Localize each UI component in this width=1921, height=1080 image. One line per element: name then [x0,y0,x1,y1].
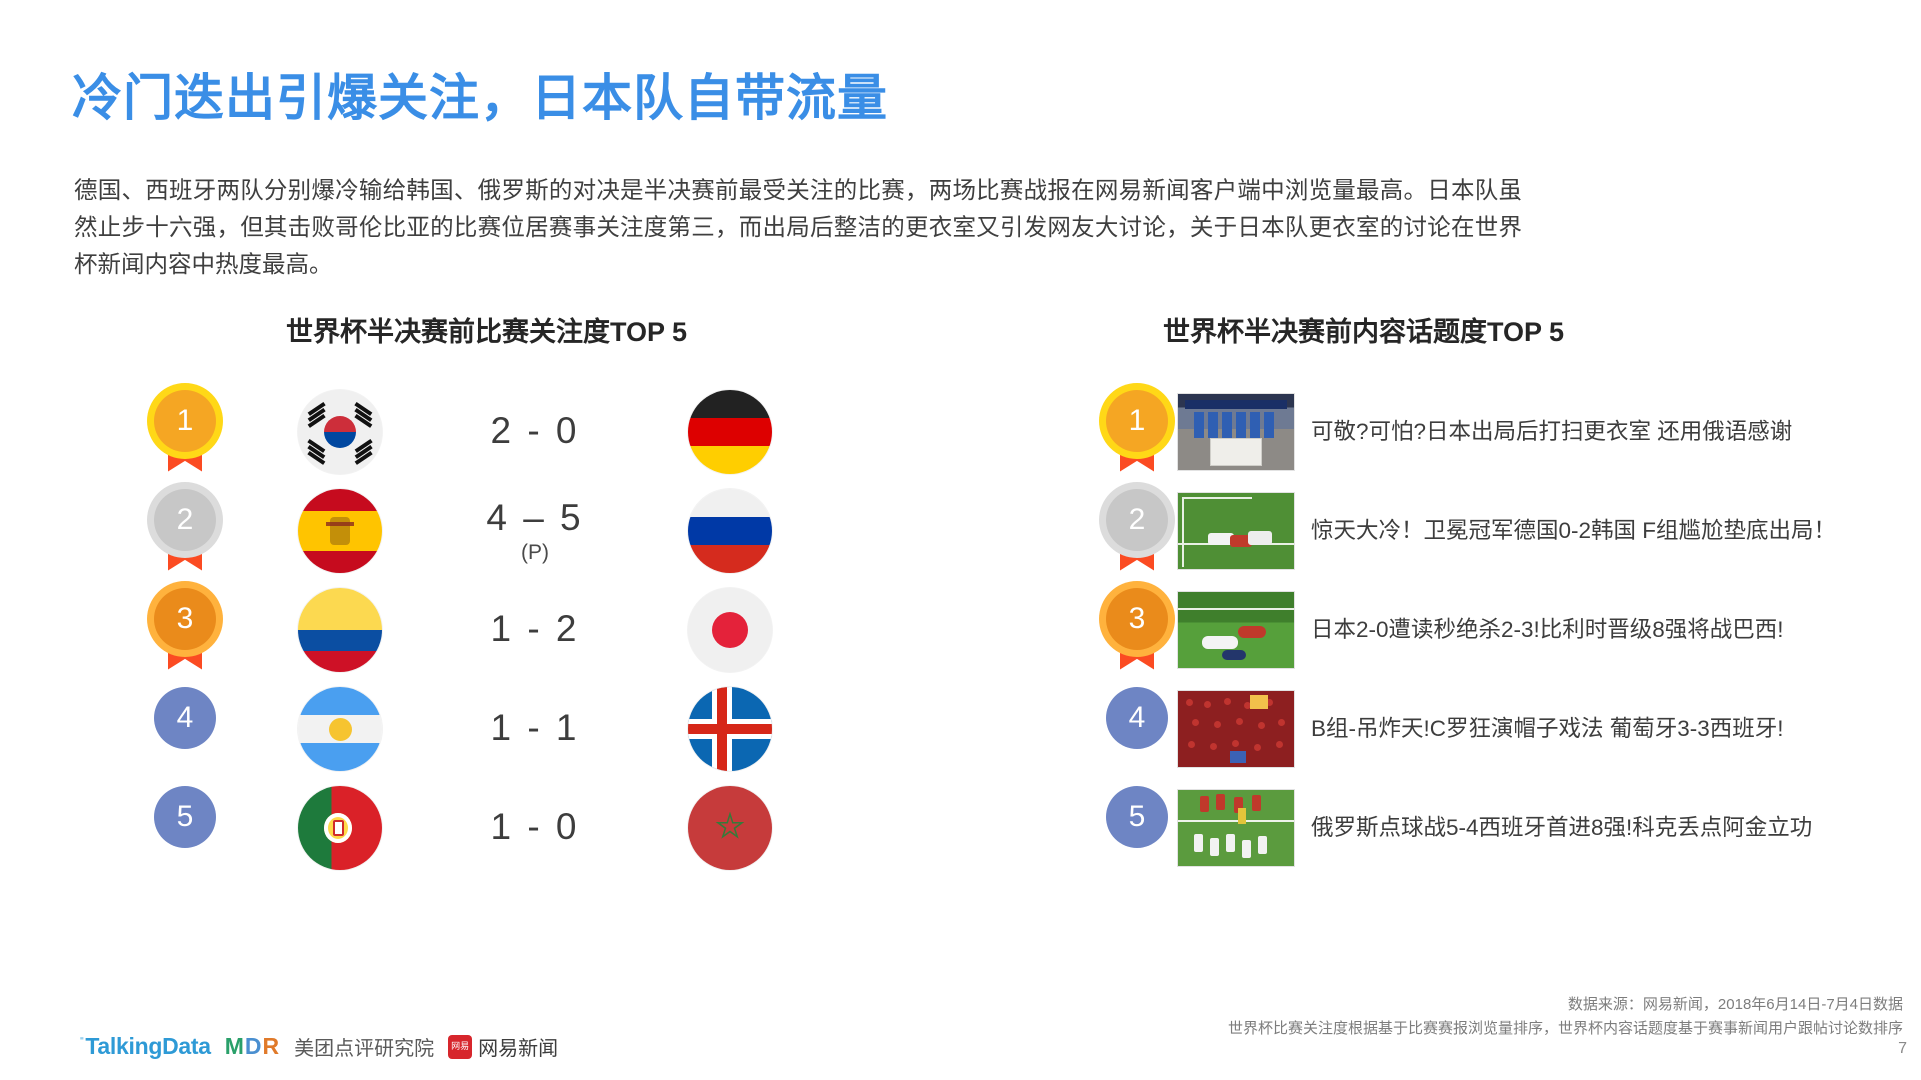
medal-icon: 2 [1106,489,1168,573]
rank-number: 5 [1106,786,1168,848]
flag-south-korea-icon [298,390,382,474]
score-value: 4 – 5 [440,497,630,539]
away-flag-cell [630,489,830,573]
slide-root: 冷门迭出引爆关注，日本队自带流量 德国、西班牙两队分别爆冷输给韩国、俄罗斯的对决… [0,0,1921,1080]
news-title[interactable]: 惊天大冷！卫冕冠军德国0-2韩国 F组尴尬垫底出局！ [1311,515,1887,546]
rank-number: 2 [154,489,216,551]
rank-number: 3 [154,588,216,650]
flag-portugal-icon [298,786,382,870]
away-flag-cell [630,786,830,870]
score-cell: 1 - 0 [440,806,630,850]
netease-mark-icon: 网易 [448,1035,472,1059]
source-line-1: 数据来源：网易新闻，2018年6月14日-7月4日数据 [1228,993,1903,1017]
home-flag-cell [240,786,440,870]
score-cell: 1 - 1 [440,707,630,751]
medal-icon: 3 [154,588,216,672]
match-attention-list: 1 2 - 0 2 [130,382,890,877]
news-thumbnail-locker-room[interactable] [1177,393,1295,471]
score-value: 1 - 1 [440,707,630,749]
rank-number: 5 [154,786,216,848]
right-panel-title: 世界杯半决赛前内容话题度TOP 5 [1163,310,1564,349]
page-number: 7 [1898,1040,1907,1058]
source-note: 数据来源：网易新闻，2018年6月14日-7月4日数据 世界杯比赛关注度根据基于… [1228,993,1903,1041]
rank-badge-cell: 5 [130,786,240,870]
match-row[interactable]: 5 1 - 0 [130,778,890,877]
match-row[interactable]: 2 4 – 5 (P) [130,481,890,580]
rank-number: 1 [1106,390,1168,452]
home-flag-cell [240,588,440,672]
summary-paragraph: 德国、西班牙两队分别爆冷输给韩国、俄罗斯的对决是半决赛前最受关注的比赛，两场比赛… [74,172,1522,283]
match-row[interactable]: 4 1 - 1 [130,679,890,778]
flag-germany-icon [688,390,772,474]
rank-number: 4 [1106,687,1168,749]
flag-argentina-icon [298,687,382,771]
home-flag-cell [240,687,440,771]
score-value: 2 - 0 [440,410,630,452]
rank-badge-cell: 4 [1097,687,1177,771]
score-note: (P) [440,541,630,565]
mdr-logo: MDR [225,1033,280,1060]
home-flag-cell [240,489,440,573]
rank-number: 1 [154,390,216,452]
score-cell: 2 - 0 [440,410,630,454]
away-flag-cell [630,687,830,771]
netease-news-logo: 网易 网易新闻 [448,1032,558,1061]
medal-icon: 1 [154,390,216,474]
topic-popularity-list: 1 可敬?可怕?日本出局后打扫更衣室 还用俄语感谢 2 [1097,382,1887,877]
news-thumbnail-goal-save[interactable] [1177,492,1295,570]
match-row[interactable]: 1 2 - 0 [130,382,890,481]
news-thumbnail-celebration[interactable] [1177,789,1295,867]
medal-icon: 4 [1106,687,1168,771]
medal-icon: 2 [154,489,216,573]
match-row[interactable]: 3 1 - 2 [130,580,890,679]
news-title[interactable]: 可敬?可怕?日本出局后打扫更衣室 还用俄语感谢 [1311,416,1887,447]
flag-japan-icon [688,588,772,672]
news-thumbnail-red-crowd[interactable] [1177,690,1295,768]
news-title[interactable]: B组-吊炸天!C罗狂演帽子戏法 葡萄牙3-3西班牙! [1311,713,1887,744]
rank-badge-cell: 1 [130,390,240,474]
rank-number: 4 [154,687,216,749]
page-title: 冷门迭出引爆关注，日本队自带流量 [72,58,888,130]
netease-news-label: 网易新闻 [478,1032,558,1061]
news-thumbnail-players-pitch[interactable] [1177,591,1295,669]
rank-badge-cell: 3 [1097,588,1177,672]
rank-number: 3 [1106,588,1168,650]
news-title[interactable]: 日本2-0遭读秒绝杀2-3!比利时晋级8强将战巴西! [1311,614,1887,645]
meituan-research-logo: 美团点评研究院 [294,1032,434,1061]
news-title[interactable]: 俄罗斯点球战5-4西班牙首进8强!科克丢点阿金立功 [1311,812,1887,843]
medal-icon: 3 [1106,588,1168,672]
list-item[interactable]: 1 可敬?可怕?日本出局后打扫更衣室 还用俄语感谢 [1097,382,1887,481]
score-cell: 1 - 2 [440,608,630,652]
list-item[interactable]: 5 俄罗斯点球战5-4西班牙首进8强!科克丢点阿金 [1097,778,1887,877]
flag-russia-icon [688,489,772,573]
score-cell: 4 – 5 (P) [440,497,630,565]
source-line-2: 世界杯比赛关注度根据基于比赛赛报浏览量排序，世界杯内容话题度基于赛事新闻用户跟帖… [1228,1017,1903,1041]
flag-morocco-icon [688,786,772,870]
rank-badge-cell: 1 [1097,390,1177,474]
flag-spain-icon [298,489,382,573]
flag-colombia-icon [298,588,382,672]
talkingdata-logo: ˙TalkingData [78,1033,211,1060]
medal-icon: 1 [1106,390,1168,474]
rank-number: 2 [1106,489,1168,551]
medal-icon: 5 [1106,786,1168,870]
rank-badge-cell: 2 [1097,489,1177,573]
away-flag-cell [630,390,830,474]
medal-icon: 4 [154,687,216,771]
list-item[interactable]: 3 日本2-0遭读秒绝杀2-3!比利时晋级8强将战巴西! [1097,580,1887,679]
list-item[interactable]: 4 B组-吊炸天!C罗狂演帽子戏法 葡萄牙3-3西班牙! [1097,679,1887,778]
flag-iceland-icon [688,687,772,771]
rank-badge-cell: 4 [130,687,240,771]
rank-badge-cell: 2 [130,489,240,573]
score-value: 1 - 2 [440,608,630,650]
list-item[interactable]: 2 惊天大冷！卫冕冠军德国0-2韩国 F组尴尬垫底出局！ [1097,481,1887,580]
brand-logos: ˙TalkingData MDR 美团点评研究院 网易 网易新闻 [78,1032,558,1061]
score-value: 1 - 0 [440,806,630,848]
medal-icon: 5 [154,786,216,870]
left-panel-title: 世界杯半决赛前比赛关注度TOP 5 [286,310,687,349]
rank-badge-cell: 3 [130,588,240,672]
home-flag-cell [240,390,440,474]
rank-badge-cell: 5 [1097,786,1177,870]
away-flag-cell [630,588,830,672]
